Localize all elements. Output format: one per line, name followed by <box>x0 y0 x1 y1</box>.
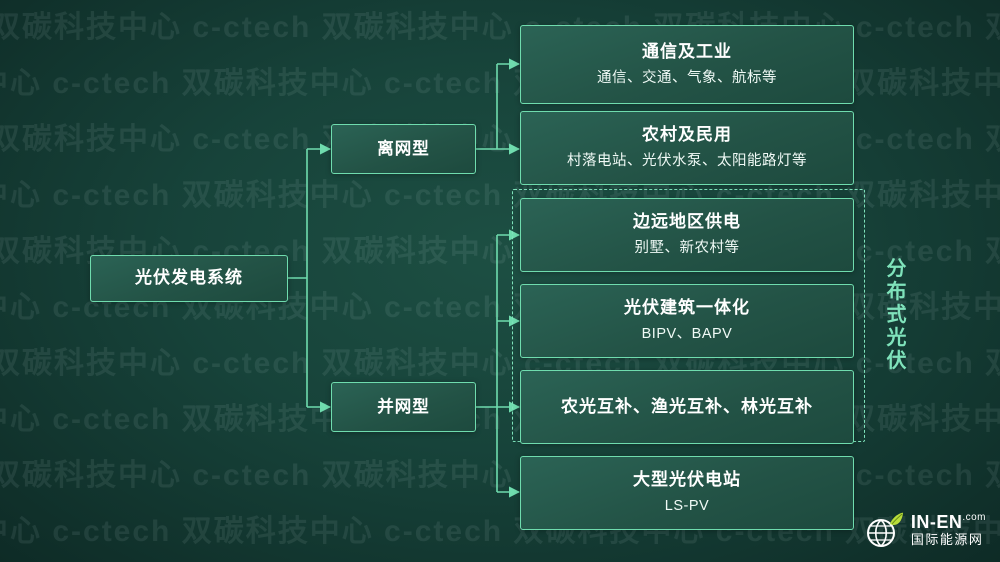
node-large-station-title: 大型光伏电站 <box>633 469 741 492</box>
node-root-title: 光伏发电系统 <box>135 267 243 290</box>
leaf-globe-icon <box>864 510 904 550</box>
node-rural-civil-subtitle: 村落电站、光伏水泵、太阳能路灯等 <box>567 151 807 171</box>
node-rural-civil[interactable]: 农村及民用 村落电站、光伏水泵、太阳能路灯等 <box>520 111 854 185</box>
node-remote-power[interactable]: 边远地区供电 别墅、新农村等 <box>520 198 854 272</box>
distributed-pv-group-label: 分布式光伏 <box>884 258 910 373</box>
node-on-grid-title: 并网型 <box>377 396 430 418</box>
node-remote-power-subtitle: 别墅、新农村等 <box>635 238 740 258</box>
logo-name-text: IN-EN <box>911 512 963 532</box>
site-logo: IN-EN.com 国际能源网 <box>864 510 986 550</box>
node-bipv-subtitle: BIPV、BAPV <box>642 324 733 344</box>
node-large-station[interactable]: 大型光伏电站 LS-PV <box>520 456 854 530</box>
logo-name: IN-EN.com <box>911 513 986 532</box>
node-complementary-title: 农光互补、渔光互补、林光互补 <box>561 396 813 419</box>
node-bipv-title: 光伏建筑一体化 <box>624 297 750 320</box>
node-large-station-subtitle: LS-PV <box>665 496 709 516</box>
logo-suffix: .com <box>962 512 986 523</box>
node-on-grid[interactable]: 并网型 <box>331 382 476 432</box>
node-complementary[interactable]: 农光互补、渔光互补、林光互补 <box>520 370 854 444</box>
diagram-canvas: 双碳科技中心 c-ctech 双碳科技中心 c-ctech 双碳科技中心 c-c… <box>0 0 1000 562</box>
logo-chinese: 国际能源网 <box>911 533 986 547</box>
node-rural-civil-title: 农村及民用 <box>642 124 732 147</box>
node-off-grid[interactable]: 离网型 <box>331 124 476 174</box>
node-off-grid-title: 离网型 <box>377 138 430 160</box>
node-bipv[interactable]: 光伏建筑一体化 BIPV、BAPV <box>520 284 854 358</box>
node-comm-industry[interactable]: 通信及工业 通信、交通、气象、航标等 <box>520 25 854 104</box>
node-root[interactable]: 光伏发电系统 <box>90 255 288 302</box>
node-remote-power-title: 边远地区供电 <box>633 211 741 234</box>
node-comm-industry-subtitle: 通信、交通、气象、航标等 <box>597 68 777 88</box>
node-comm-industry-title: 通信及工业 <box>642 41 732 64</box>
